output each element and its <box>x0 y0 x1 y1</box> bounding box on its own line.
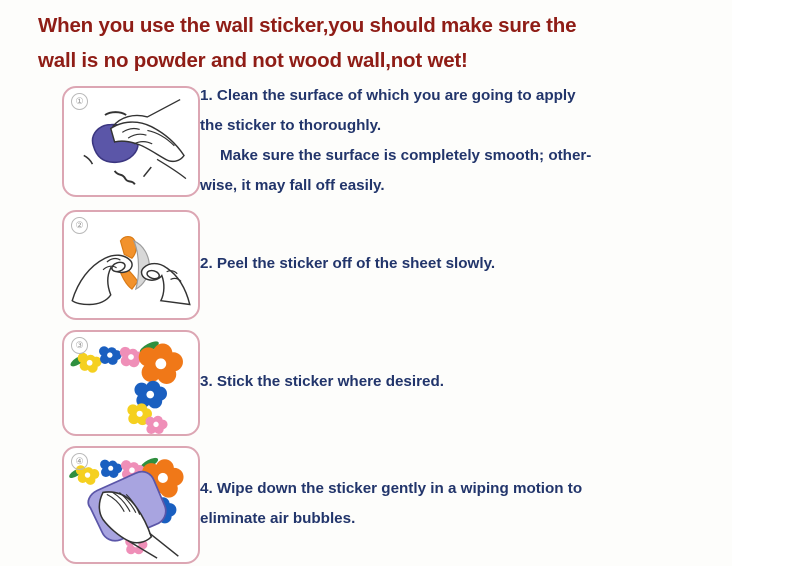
step-text-1: 1. Clean the surface of which you are go… <box>200 81 720 201</box>
step-text-line: Make sure the surface is completely smoo… <box>200 141 720 171</box>
step-illustration-panel-4: ④ <box>62 446 200 564</box>
step-illustration-panel-2: ② <box>62 210 200 320</box>
step-number-badge-1: ① <box>71 93 88 110</box>
flower-blue-small <box>99 346 122 365</box>
step-number-badge-2: ② <box>71 217 88 234</box>
step-number-badge-3: ③ <box>71 337 88 354</box>
step-text-2: 2. Peel the sticker off of the sheet slo… <box>200 249 720 279</box>
flower-yellow-small <box>78 353 102 373</box>
step-text-line: 4. Wipe down the sticker gently in a wip… <box>200 474 720 504</box>
step-text-line: 3. Stick the sticker where desired. <box>200 367 720 397</box>
page-title-line-1: When you use the wall sticker,you should… <box>38 8 738 43</box>
step-text-4: 4. Wipe down the sticker gently in a wip… <box>200 474 720 534</box>
step-text-line: 1. Clean the surface of which you are go… <box>200 81 720 111</box>
step-text-3: 3. Stick the sticker where desired. <box>200 367 720 397</box>
step-illustration-panel-1: ① <box>62 86 200 197</box>
step-text-line: wise, it may fall off easily. <box>200 171 720 201</box>
flower-pink-bottom <box>145 416 167 434</box>
page-title: When you use the wall sticker,you should… <box>38 8 738 78</box>
flower-orange-large <box>139 344 183 384</box>
step-text-line: the sticker to thoroughly. <box>200 111 720 141</box>
step-text-line: eliminate air bubbles. <box>200 504 720 534</box>
page-title-line-2: wall is no powder and not wood wall,not … <box>38 43 738 78</box>
flower-blue-small <box>100 460 122 478</box>
step-number-badge-4: ④ <box>71 453 88 470</box>
instruction-sheet: When you use the wall sticker,you should… <box>0 0 800 566</box>
step-text-line: 2. Peel the sticker off of the sheet slo… <box>200 249 720 279</box>
step-illustration-panel-3: ③ <box>62 330 200 436</box>
